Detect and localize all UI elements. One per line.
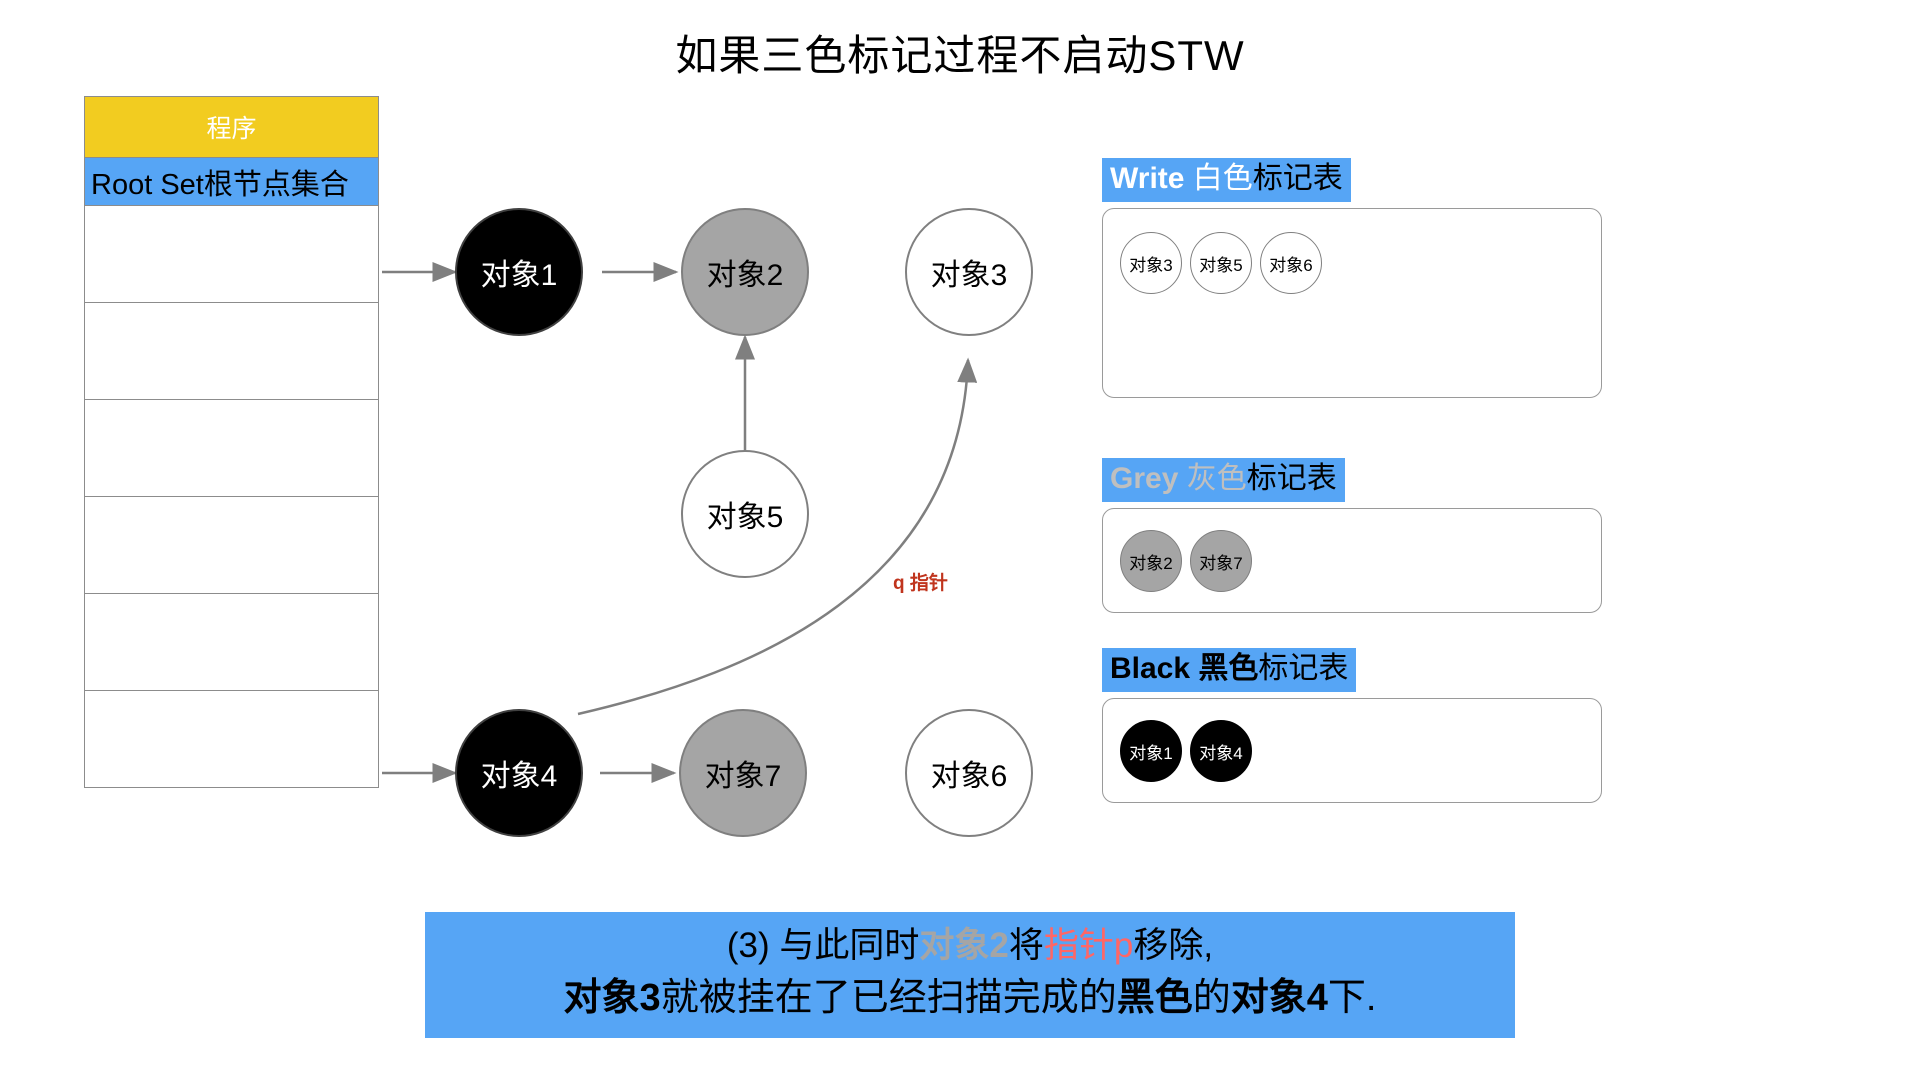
caption-line-1: (3) 与此同时对象2将指针p移除, [425,920,1515,972]
caption-obj2: 对象2 [919,926,1008,965]
mark-title-en: Black [1110,652,1190,685]
mark-table-black-title: Black 黑色标记表 [1102,648,1356,692]
mark-title-cn-plain: 标记表 [1253,162,1343,195]
mark-table-grey-title: Grey 灰色标记表 [1102,458,1345,502]
node-label: 对象5 [707,492,784,536]
node-obj1[interactable]: 对象1 [455,208,583,336]
mark-title-cn-colored: 白色 [1184,162,1252,195]
program-empty-cell [84,691,379,788]
q-pointer-label: q 指针 [893,568,948,595]
mark-title-cn-colored: 灰色 [1178,462,1246,495]
program-empty-cell [84,594,379,691]
caption-seg: (3) 与此同时 [727,926,920,965]
node-label: 对象6 [931,751,1008,795]
caption-seg: 就被挂在了已经扫描完成的 [661,977,1117,1019]
mark-chip-label: 对象5 [1199,251,1242,276]
caption-line-2: 对象3就被挂在了已经扫描完成的黑色的对象4下. [425,972,1515,1024]
caption-seg: 移除, [1133,926,1213,965]
node-obj3[interactable]: 对象3 [905,208,1033,336]
mark-chip[interactable]: 对象6 [1260,232,1322,294]
mark-chip[interactable]: 对象7 [1190,530,1252,592]
node-label: 对象1 [481,250,558,294]
mark-table-black-items: 对象1 对象4 [1120,720,1252,782]
caption-black-word: 黑色 [1117,977,1193,1019]
mark-chip[interactable]: 对象5 [1190,232,1252,294]
mark-chip-label: 对象3 [1129,251,1172,276]
mark-title-cn-plain: 标记表 [1247,462,1337,495]
mark-table-white-items: 对象3 对象5 对象6 [1120,232,1322,294]
mark-chip-label: 对象4 [1199,739,1242,764]
mark-chip[interactable]: 对象3 [1120,232,1182,294]
node-obj2[interactable]: 对象2 [681,208,809,336]
mark-table-black: Black 黑色标记表 对象1 对象4 [1102,648,1602,788]
program-empty-cell [84,303,379,400]
caption-obj3: 对象3 [564,977,661,1019]
mark-table-white: Write 白色标记表 对象3 对象5 对象6 [1102,158,1602,398]
caption-seg: 的 [1193,977,1231,1019]
mark-chip[interactable]: 对象4 [1190,720,1252,782]
program-panel: 程序 Root Set根节点集合 [84,96,379,788]
mark-chip-label: 对象1 [1129,739,1172,764]
mark-title-en: Write [1110,162,1184,195]
program-empty-cell [84,206,379,303]
node-obj7[interactable]: 对象7 [679,709,807,837]
caption-seg: 将 [1009,926,1044,965]
node-label: 对象7 [705,751,782,795]
mark-table-white-title: Write 白色标记表 [1102,158,1351,202]
page-title: 如果三色标记过程不启动STW [0,28,1920,84]
mark-chip-label: 对象6 [1269,251,1312,276]
node-obj5[interactable]: 对象5 [681,450,809,578]
caption-box: (3) 与此同时对象2将指针p移除, 对象3就被挂在了已经扫描完成的黑色的对象4… [425,912,1515,1038]
program-empty-cell [84,497,379,594]
caption-seg: 下. [1328,977,1377,1019]
mark-chip[interactable]: 对象1 [1120,720,1182,782]
mark-title-en: Grey [1110,462,1178,495]
node-label: 对象4 [481,751,558,795]
root-set-row: Root Set根节点集合 [84,158,379,206]
mark-title-cn-colored: 黑色 [1190,652,1258,685]
node-label: 对象2 [707,250,784,294]
caption-pointer-p: 指针p [1044,926,1133,965]
node-obj4[interactable]: 对象4 [455,709,583,837]
mark-chip[interactable]: 对象2 [1120,530,1182,592]
node-label: 对象3 [931,250,1008,294]
mark-chip-label: 对象2 [1129,549,1172,574]
mark-table-grey: Grey 灰色标记表 对象2 对象7 [1102,458,1602,598]
program-header: 程序 [84,96,379,158]
mark-table-grey-items: 对象2 对象7 [1120,530,1252,592]
caption-obj4: 对象4 [1231,977,1328,1019]
program-empty-cell [84,400,379,497]
node-obj6[interactable]: 对象6 [905,709,1033,837]
mark-title-cn-plain: 标记表 [1258,652,1348,685]
mark-chip-label: 对象7 [1199,549,1242,574]
